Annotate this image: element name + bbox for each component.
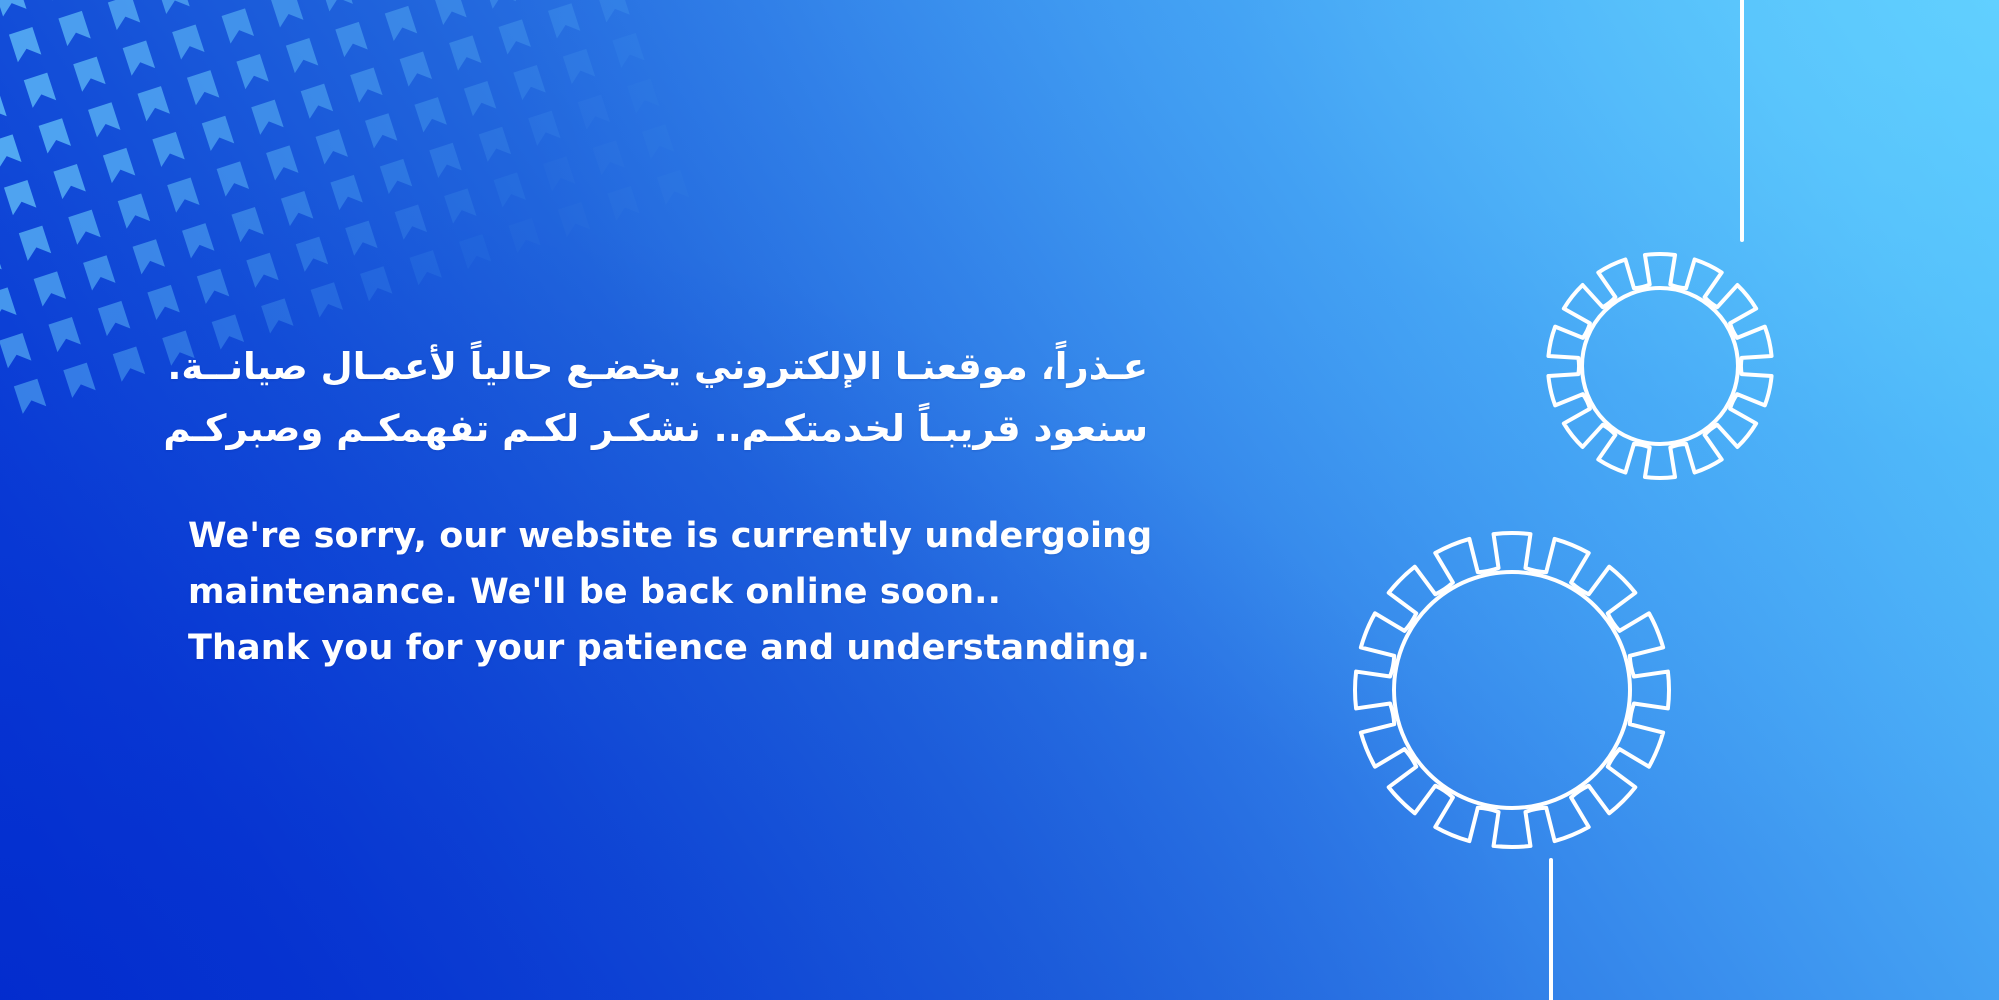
english-line-1: We're sorry, our website is currently un…	[188, 508, 1148, 564]
english-message: We're sorry, our website is currently un…	[188, 508, 1148, 676]
message-block: عـذراً، موقعنـا الإلكتروني يخضـع حالياً …	[188, 336, 1148, 676]
english-line-3: Thank you for your patience and understa…	[188, 620, 1148, 676]
english-line-2: maintenance. We'll be back online soon..	[188, 564, 1148, 620]
maintenance-page: عـذراً، موقعنـا الإلكتروني يخضـع حالياً …	[0, 0, 1999, 1000]
arabic-message: عـذراً، موقعنـا الإلكتروني يخضـع حالياً …	[188, 336, 1148, 460]
arabic-line-1: عـذراً، موقعنـا الإلكتروني يخضـع حالياً …	[188, 336, 1148, 398]
arabic-line-2: سنعود قريبـاً لخدمتكـم.. نشكـر لكـم تفهم…	[188, 398, 1148, 460]
